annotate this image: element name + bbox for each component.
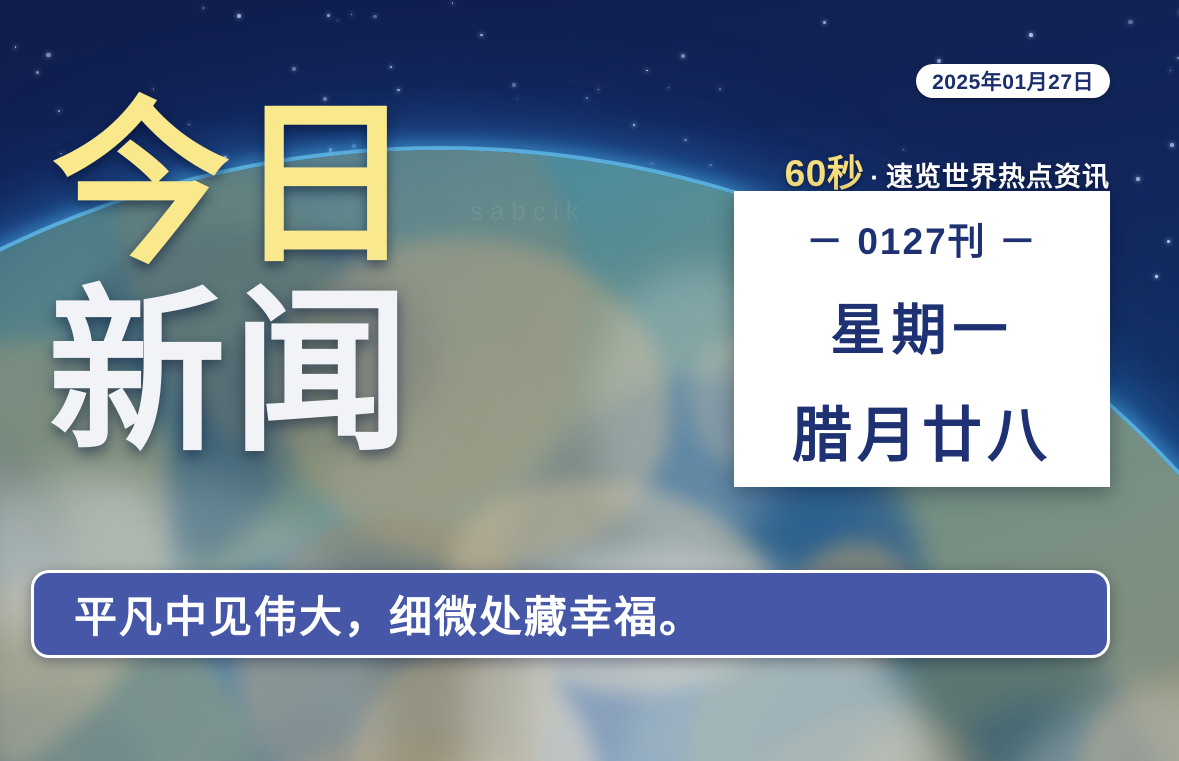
card-issue-number: － 0127刊 － bbox=[806, 211, 1038, 265]
date-badge: 2025年01月27日 bbox=[916, 64, 1110, 98]
tagline-description: 速览世界热点资讯 bbox=[886, 155, 1110, 194]
date-badge-label: 2025年01月27日 bbox=[932, 66, 1094, 96]
tagline: 60秒 · 速览世界热点资讯 bbox=[785, 143, 1110, 197]
poster-stage: sabcik 今日 新闻 2025年01月27日 60秒 · 速览世界热点资讯 … bbox=[0, 0, 1179, 761]
quote-banner-text: 平凡中见伟大，细微处藏幸福。 bbox=[74, 583, 704, 645]
watermark-text: sabcik bbox=[470, 196, 586, 227]
card-weekday: 星期一 bbox=[830, 285, 1013, 365]
tagline-seconds: 60秒 bbox=[785, 143, 865, 197]
card-lunar-date: 腊月廿八 bbox=[792, 387, 1052, 474]
headline: 今日 新闻 bbox=[52, 96, 420, 462]
headline-line-1: 今日 bbox=[52, 96, 420, 274]
tagline-separator: · bbox=[870, 162, 879, 193]
quote-banner: 平凡中见伟大，细微处藏幸福。 bbox=[31, 570, 1110, 658]
info-card: － 0127刊 － 星期一 腊月廿八 bbox=[734, 191, 1110, 487]
headline-line-2: 新闻 bbox=[48, 284, 420, 462]
